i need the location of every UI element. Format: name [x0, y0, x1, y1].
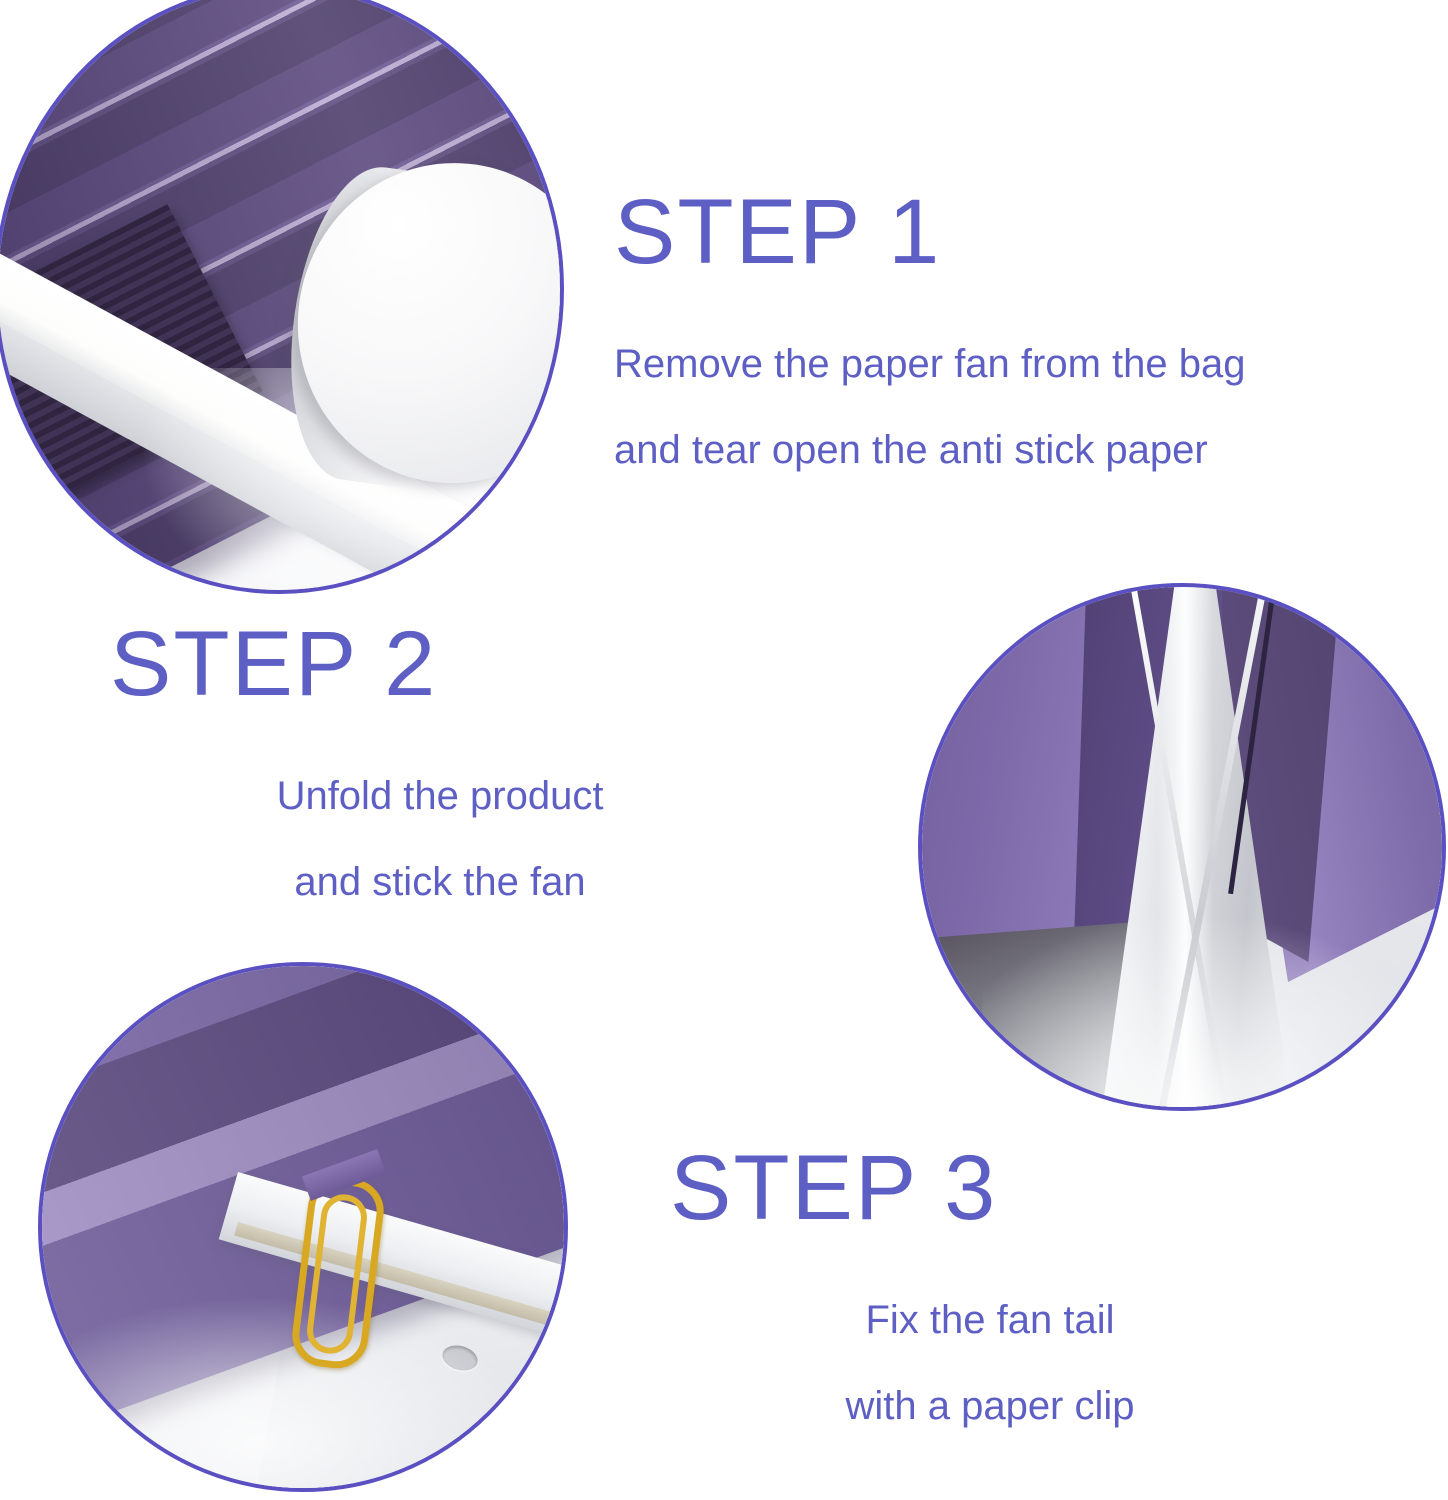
step-2-line-2: and stick the fan [110, 862, 770, 902]
step-3-line-1: Fix the fan tail [670, 1300, 1310, 1340]
step-2-title: STEP 2 [110, 618, 770, 710]
step-2-line-1: Unfold the product [110, 776, 770, 816]
step-1-title: STEP 1 [614, 186, 1245, 278]
photo-step-2-unfolded-fan [922, 587, 1442, 1107]
photo-circle-step-1 [0, 0, 564, 594]
step-1-line-1: Remove the paper fan from the bag [614, 344, 1245, 384]
photo2-surface-glow [982, 917, 1442, 1107]
photo-circle-step-2 [918, 583, 1446, 1111]
step-1-text-block: STEP 1 Remove the paper fan from the bag… [614, 186, 1245, 470]
step-3-line-2: with a paper clip [670, 1386, 1310, 1426]
step-2-text-block: STEP 2 Unfold the product and stick the … [110, 618, 770, 902]
photo-step-1-folded-fan [0, 0, 560, 590]
instruction-infographic: STEP 1 Remove the paper fan from the bag… [0, 0, 1448, 1500]
step-1-line-2: and tear open the anti stick paper [614, 430, 1245, 470]
photo-circle-step-3 [38, 962, 568, 1492]
step-3-text-block: STEP 3 Fix the fan tail with a paper cli… [670, 1142, 1310, 1426]
step-3-title: STEP 3 [670, 1142, 1310, 1234]
photo-step-3-paper-clip [42, 966, 564, 1488]
